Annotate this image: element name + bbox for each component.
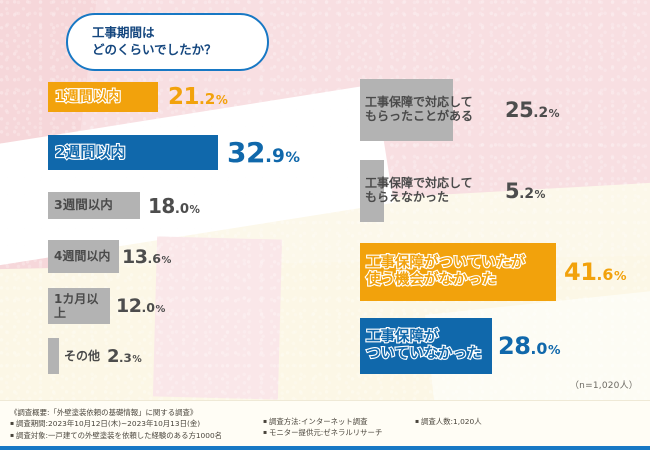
bar-row-right-1: 工事保障で対応して もらったことがある 25.2%	[360, 79, 560, 141]
bar-label-left-6: その他	[64, 349, 100, 363]
bar-left-6	[48, 338, 59, 374]
bar-left-1: 1週間以内	[48, 82, 158, 112]
footer: 《調査概要:「外壁塗装依頼の基礎情報」に関する調査》 調査期間:2023年10月…	[0, 400, 650, 450]
bar-label-right-3: 工事保障がついていたが 使う機会がなかった	[366, 255, 525, 289]
left-question-line-2: どのくらいでしたか？	[92, 41, 251, 58]
bar-row-right-4: 工事保障が ついていなかった 28.0%	[360, 318, 560, 374]
bar-row-left-5: 1カ月以上 12.0%	[48, 288, 165, 324]
bar-label-left-3: 3週間以内	[54, 198, 113, 213]
footer-period: 調査期間:2023年10月12日(木)~2023年10月13日(金)	[10, 418, 222, 429]
bar-row-left-4: 4週間以内 13.6%	[48, 240, 171, 273]
bar-left-3: 3週間以内	[48, 192, 140, 219]
bar-row-left-1: 1週間以内 21.2%	[48, 82, 228, 112]
footer-column-left: 《調査概要:「外壁塗装依頼の基礎情報」に関する調査》 調査期間:2023年10月…	[10, 407, 222, 441]
bar-value-left-5: 12.0%	[116, 295, 165, 317]
bar-row-right-3: 工事保障がついていたが 使う機会がなかった 41.6%	[360, 243, 626, 301]
bar-label-left-5: 1カ月以上	[54, 292, 110, 320]
left-chart-panel: 工事期間は どのくらいでしたか？ 1週間以内 21.2% 2週間以内 32.9%…	[0, 0, 325, 400]
bar-value-right-2: 5.2%	[505, 179, 545, 203]
bar-left-4: 4週間以内	[48, 240, 119, 273]
bar-left-2: 2週間以内	[48, 135, 218, 170]
footer-overview: 《調査概要:「外壁塗装依頼の基礎情報」に関する調査》	[10, 407, 222, 418]
footer-count: 調査人数:1,020人	[415, 416, 482, 427]
bar-label-left-4: 4週間以内	[54, 249, 110, 263]
footer-column-middle: 調査方法:インターネット調査 モニター提供元:ゼネラルリサーチ	[263, 416, 382, 439]
footer-target: 調査対象:一戸建ての外壁塗装を依頼した経験のある方1000名	[10, 430, 222, 441]
bar-value-left-6: 2.3%	[107, 346, 142, 367]
bar-label-left-1: 1週間以内	[55, 89, 121, 106]
bar-row-right-2: 工事保障で対応して もらえなかった 5.2%	[360, 160, 545, 222]
bar-right-4: 工事保障が ついていなかった	[360, 318, 492, 374]
bar-value-right-4: 28.0%	[498, 332, 560, 360]
bar-row-left-6: その他 2.3%	[48, 338, 142, 374]
footer-column-right: 調査人数:1,020人	[415, 416, 482, 427]
left-question-bubble: 工事期間は どのくらいでしたか？	[66, 13, 269, 71]
left-question-line-1: 工事期間は	[92, 24, 251, 41]
bar-row-left-3: 3週間以内 18.0%	[48, 192, 200, 219]
footer-method: 調査方法:インターネット調査	[263, 416, 382, 427]
bar-label-right-1: 工事保障で対応して もらったことがある	[365, 95, 473, 123]
bar-value-left-2: 32.9%	[227, 136, 300, 169]
bar-left-5: 1カ月以上	[48, 288, 110, 324]
bar-right-3: 工事保障がついていたが 使う機会がなかった	[360, 243, 556, 301]
bar-label-left-2: 2週間以内	[55, 144, 125, 162]
bar-value-left-1: 21.2%	[168, 84, 228, 110]
bar-label-right-2: 工事保障で対応して もらえなかった	[365, 176, 473, 204]
right-chart-panel: 工事保証で対応してもらった ことはありますか？ 工事保障で対応して もらったこと…	[325, 0, 650, 400]
bar-value-left-4: 13.6%	[122, 246, 171, 268]
sample-size-note: （n=1,020人）	[570, 378, 638, 391]
infographic-poster: 工事期間は どのくらいでしたか？ 1週間以内 21.2% 2週間以内 32.9%…	[0, 0, 650, 450]
bar-row-left-2: 2週間以内 32.9%	[48, 135, 300, 170]
bar-value-right-3: 41.6%	[564, 258, 626, 286]
bar-value-right-1: 25.2%	[505, 98, 560, 122]
footer-monitor: モニター提供元:ゼネラルリサーチ	[263, 427, 382, 438]
footer-accent-rule	[0, 446, 650, 450]
bar-value-left-3: 18.0%	[148, 194, 200, 218]
bar-label-right-4: 工事保障が ついていなかった	[366, 329, 482, 363]
